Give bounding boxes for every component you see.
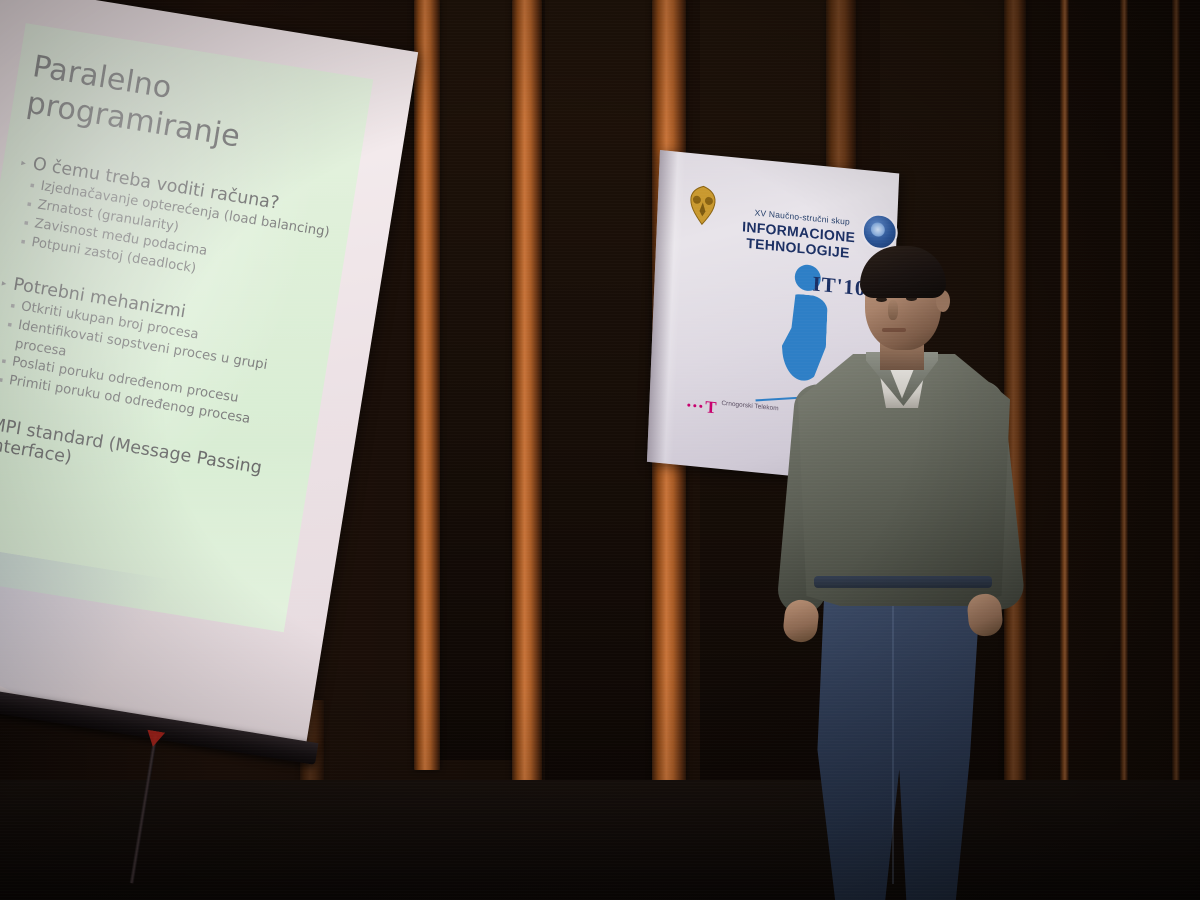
hair [860,246,946,298]
waistband [814,576,992,588]
sub-bullet-glyph: ▪ [22,214,30,234]
conference-room-photo: Paralelno programiranje ▸ O čemu treba v… [0,0,1200,900]
presentation-slide: Paralelno programiranje ▸ O čemu treba v… [0,23,373,632]
wall-pilaster [1172,0,1180,850]
jeans-seam [892,584,894,884]
sub-bullet-glyph: ▪ [0,371,5,391]
presenter [770,248,1030,900]
mouth [882,328,906,332]
bullet-glyph: ▸ [0,273,8,295]
jeans [810,578,996,900]
wall-panel [545,0,660,780]
bullet-glyph: ▸ [20,152,28,174]
slide-title: Paralelno programiranje [24,49,361,174]
nose [888,300,898,320]
sub-bullet-glyph: ▪ [6,315,14,335]
wall-panel [430,0,520,760]
telekom-dots-icon [687,403,702,407]
sub-bullet-glyph: ▪ [0,352,8,372]
left-hand [782,598,820,643]
slide-body: ▸ O čemu treba voditi računa? ▪ Izjednač… [0,150,345,505]
sub-bullet-glyph: ▪ [28,176,36,196]
telekom-t-icon: T [705,397,717,418]
right-hand [966,593,1004,638]
sub-bullet-glyph: ▪ [19,232,27,252]
sub-bullet-glyph: ▪ [9,296,17,316]
sub-bullet-glyph: ▪ [25,195,33,215]
wall-pilaster [1060,0,1069,840]
wall-pilaster [1120,0,1128,845]
wall-pilaster [512,0,542,790]
